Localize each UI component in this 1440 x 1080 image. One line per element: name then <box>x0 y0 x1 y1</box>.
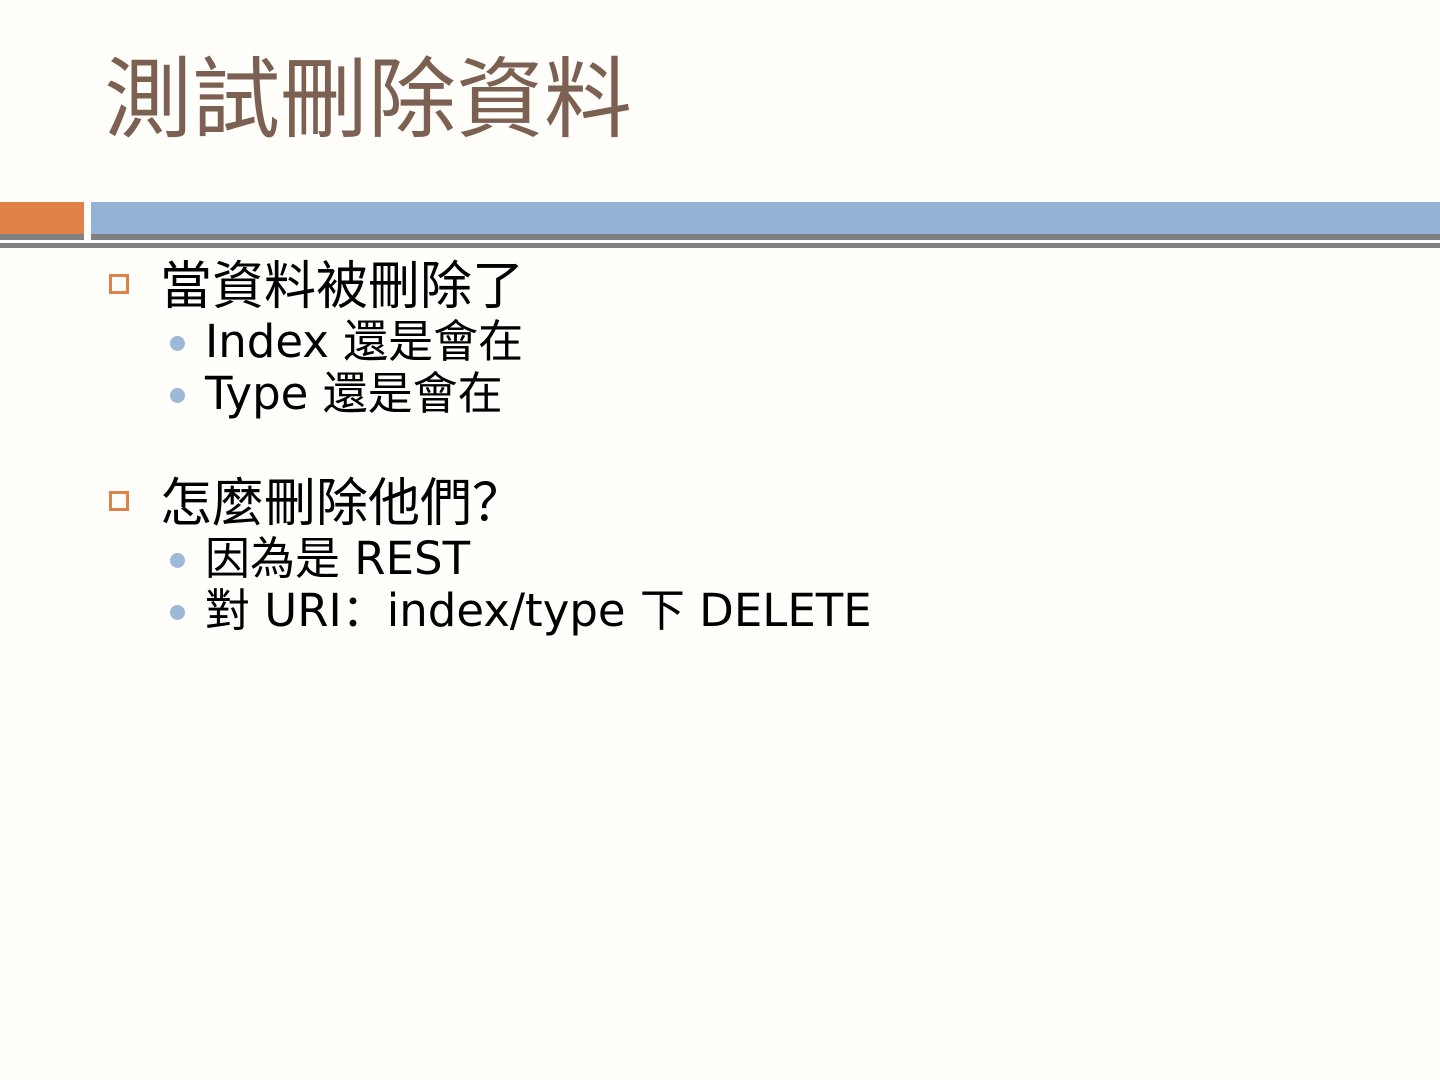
bullet-group-spacer <box>0 420 1440 475</box>
bullet-level1-label: 當資料被刪除了 <box>160 257 524 317</box>
title-divider <box>0 202 1440 248</box>
divider-bar-shadow <box>91 234 1440 240</box>
bullet-level2: Index 還是會在 <box>0 316 1440 368</box>
slide-title-area: 測試刪除資料 <box>0 0 1440 200</box>
dot-bullet-icon <box>170 388 185 403</box>
divider-bar <box>91 202 1440 234</box>
bullet-level2-label: 因為是 REST <box>205 532 470 585</box>
bullet-level1: 怎麼刪除他們？ <box>0 475 1440 533</box>
bullet-level1-label: 怎麼刪除他們？ <box>160 474 524 534</box>
dot-bullet-icon <box>170 553 185 568</box>
bullet-level2: Type 還是會在 <box>0 368 1440 420</box>
divider-accent-shadow <box>0 234 84 240</box>
slide-body: 當資料被刪除了 Index 還是會在 Type 還是會在 怎麼刪除他們？ 因為是… <box>0 258 1440 1058</box>
bullet-list: 當資料被刪除了 Index 還是會在 Type 還是會在 怎麼刪除他們？ 因為是… <box>0 258 1440 637</box>
bullet-level2-label: 對 URI：index/type 下 DELETE <box>205 584 872 637</box>
slide-canvas: 測試刪除資料 當資料被刪除了 Index 還是會在 Type 還是會在 <box>0 0 1440 1080</box>
bullet-level1: 當資料被刪除了 <box>0 258 1440 316</box>
page-title: 測試刪除資料 <box>104 52 632 147</box>
square-bullet-icon <box>109 274 129 294</box>
bullet-level2: 對 URI：index/type 下 DELETE <box>0 585 1440 637</box>
square-bullet-icon <box>109 491 129 511</box>
bullet-level2-label: Type 還是會在 <box>205 367 503 420</box>
bullet-level2: 因為是 REST <box>0 533 1440 585</box>
bullet-level2-label: Index 還是會在 <box>205 315 523 368</box>
dot-bullet-icon <box>170 336 185 351</box>
dot-bullet-icon <box>170 605 185 620</box>
divider-accent-block <box>0 202 84 234</box>
divider-rule <box>0 243 1440 248</box>
